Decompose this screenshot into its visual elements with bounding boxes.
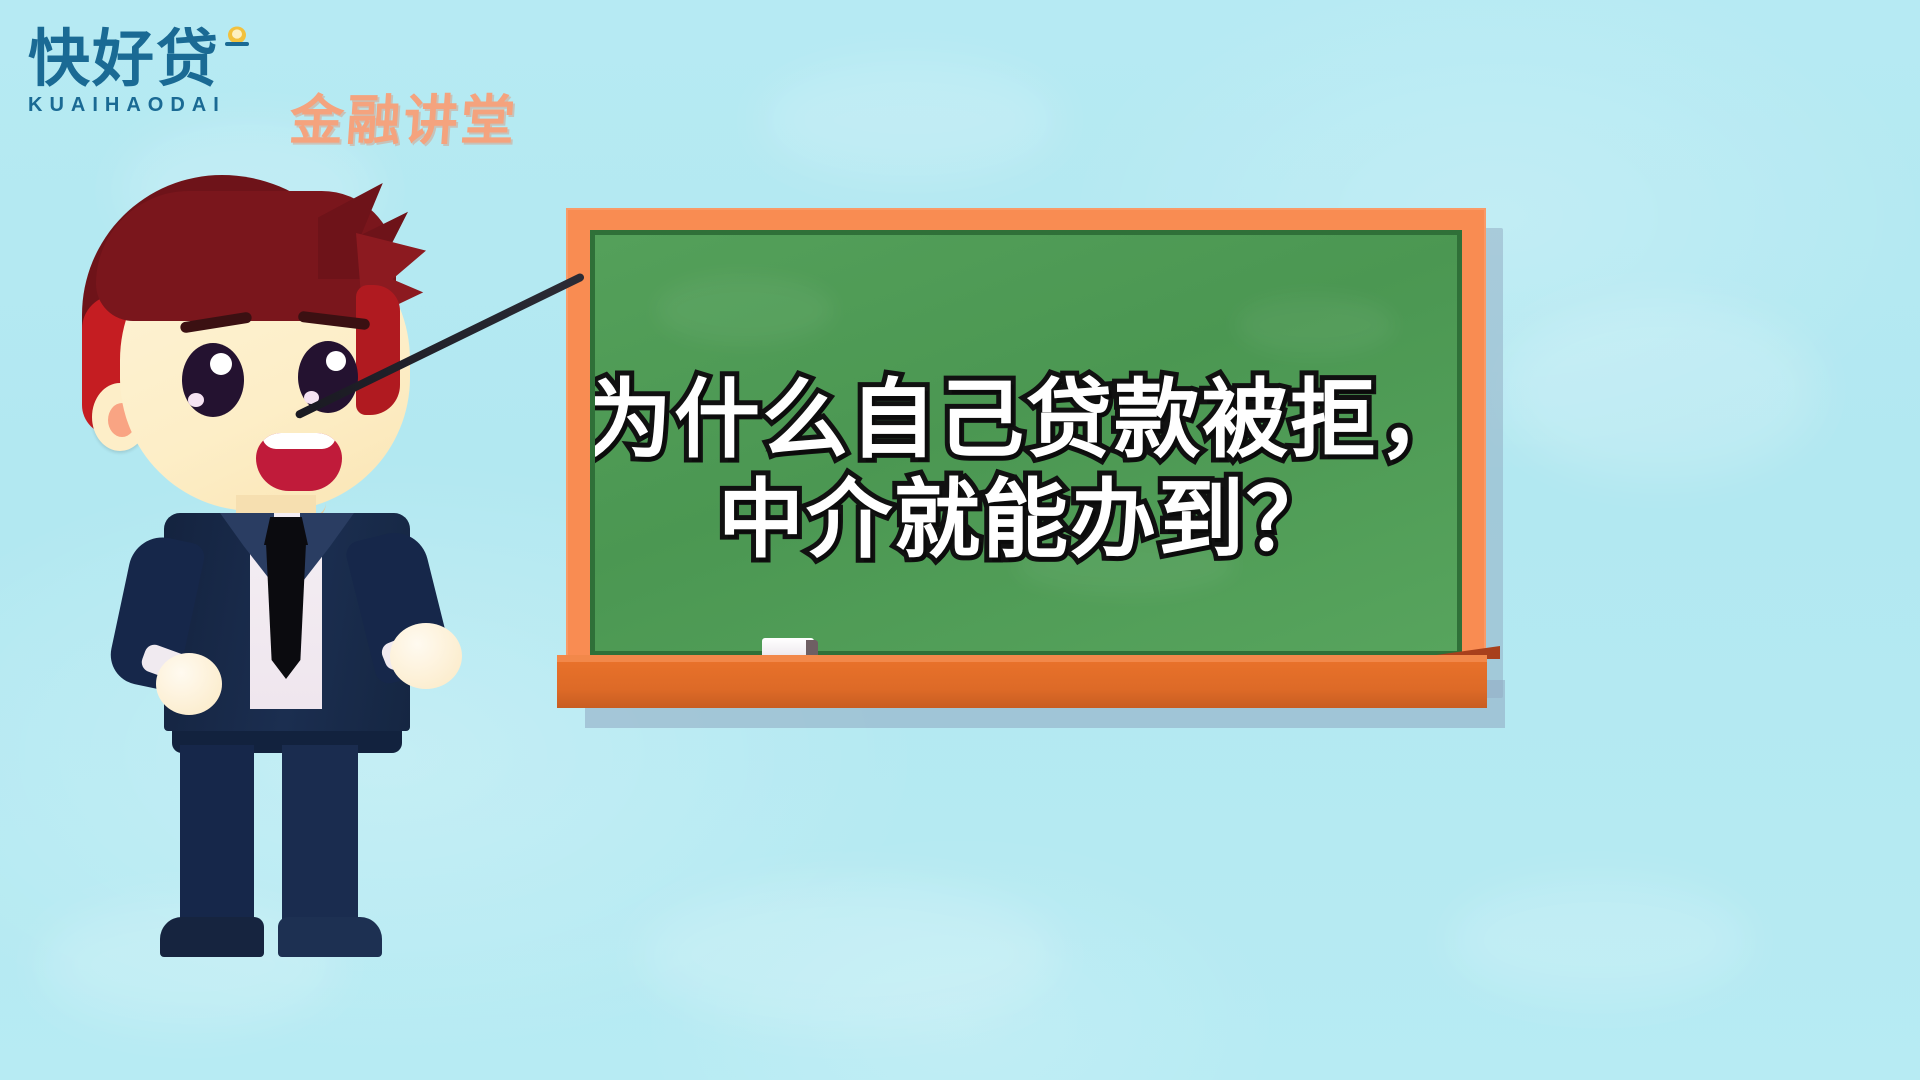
background-blob (1500, 300, 1820, 480)
blackboard-surface: 为什么自己贷款被拒， 中介就能办到？ (595, 235, 1457, 651)
mouth (256, 433, 342, 491)
eye-glint-left (188, 393, 204, 407)
tie (266, 543, 306, 679)
shoe-left (160, 917, 264, 957)
blackboard-title-line-1: 为什么自己贷款被拒， (595, 371, 1457, 471)
leg-right (282, 745, 358, 945)
background-blob (640, 880, 1060, 1030)
brand-logo: 快好贷 KUAIHAODAI 金融讲堂 (28, 28, 648, 158)
brand-subtitle: 金融讲堂 (287, 76, 521, 155)
eye-highlight-left (210, 353, 232, 375)
logo-romanization: KUAIHAODAI (28, 94, 278, 117)
hair-temple (356, 285, 400, 415)
logo-mark: 快好贷 KUAIHAODAI (28, 28, 278, 148)
blackboard-frame: 为什么自己贷款被拒， 中介就能办到？ (566, 208, 1486, 678)
shoe-right (278, 917, 382, 957)
coin-icon (224, 26, 250, 48)
chalk-ledge (557, 662, 1487, 708)
blackboard-title: 为什么自己贷款被拒， 中介就能办到？ (595, 371, 1457, 571)
hand-right (390, 623, 462, 689)
blackboard-title-line-2: 中介就能办到？ (595, 471, 1457, 571)
background-blob (760, 60, 1060, 180)
hand-left (156, 653, 222, 715)
leg-left (180, 745, 254, 945)
slide-canvas: 快好贷 KUAIHAODAI 金融讲堂 为什么自己贷款被拒， 中介就能办到？ (0, 0, 1920, 1080)
background-blob (1450, 880, 1750, 1000)
eye-highlight-right (326, 351, 346, 371)
teeth (262, 433, 336, 449)
cartoon-teacher (60, 165, 580, 825)
tie-knot (264, 517, 308, 545)
blackboard-inner-edge: 为什么自己贷款被拒， 中介就能办到？ (590, 230, 1462, 656)
